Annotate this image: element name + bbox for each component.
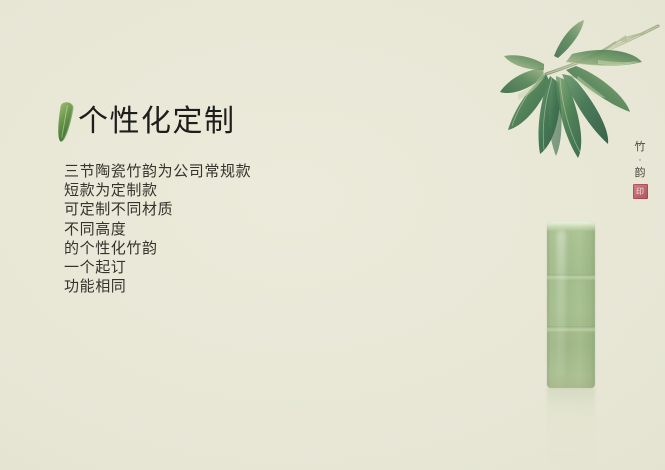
poster-canvas: 竹 · 韵 印 个性化定制 三节陶瓷竹韵为公司常规款 短款为定制款 可定制不同材… (0, 0, 665, 470)
body-line: 一个起订 (64, 259, 364, 278)
page-title-text: 个性化定制 (78, 105, 236, 139)
leaf-accent-icon (55, 101, 75, 143)
page-title: 个性化定制 (58, 101, 236, 143)
vase-highlight (557, 230, 566, 378)
vase-body (547, 222, 595, 388)
body-copy-block: 三节陶瓷竹韵为公司常规款 短款为定制款 可定制不同材质 不同高度 的个性化竹韵 … (64, 163, 364, 297)
body-line: 的个性化竹韵 (64, 240, 364, 259)
vase-node-band (547, 326, 595, 333)
red-seal-stamp: 印 (633, 184, 648, 199)
caption-char-top: 竹 (625, 140, 655, 155)
seal-glyph: 印 (635, 186, 646, 197)
celadon-bamboo-vase (544, 222, 598, 470)
body-line: 可定制不同材质 (64, 201, 364, 220)
vertical-caption: 竹 · 韵 印 (625, 140, 655, 199)
caption-separator-dot: · (625, 155, 655, 166)
body-line: 功能相同 (64, 278, 364, 297)
body-line: 短款为定制款 (64, 182, 364, 201)
body-line: 不同高度 (64, 221, 364, 240)
body-line: 三节陶瓷竹韵为公司常规款 (64, 163, 364, 182)
bamboo-stem-icon (539, 26, 658, 81)
vase-rim (547, 222, 595, 231)
vase-reflection (547, 389, 595, 470)
bamboo-leaf-cluster-icon (500, 20, 642, 158)
vase-base-shadow (547, 374, 595, 388)
caption-char-bottom: 韵 (625, 166, 655, 181)
vase-node-band (547, 274, 595, 281)
